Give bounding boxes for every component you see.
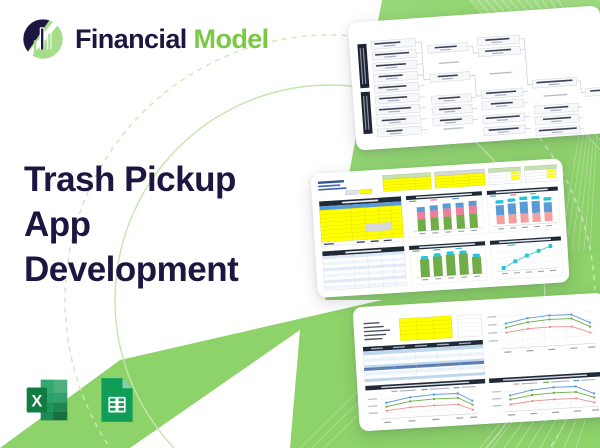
google-sheets-icon[interactable] <box>92 375 142 425</box>
card-dupont-analysis-diagram[interactable] <box>348 5 600 150</box>
financial-model-circle-chart-logo <box>22 18 64 60</box>
svg-text:X: X <box>31 392 42 410</box>
file-format-icons: X <box>22 375 142 425</box>
brand-name: Financial Model <box>75 26 269 53</box>
card-ratio-charts-sheet[interactable] <box>353 293 600 432</box>
card-financial-dashboard[interactable] <box>310 158 569 298</box>
brand-logo: Financial Model <box>22 18 269 60</box>
brand-name-part2: Model <box>194 24 269 54</box>
brand-name-part1: Financial <box>75 24 187 54</box>
excel-icon[interactable]: X <box>22 375 72 425</box>
slide-canvas: Financial Model Trash Pickup App Develop… <box>0 0 600 448</box>
green-panel-bottom-wedge <box>130 330 300 448</box>
page-title: Trash Pickup App Development <box>24 158 289 292</box>
